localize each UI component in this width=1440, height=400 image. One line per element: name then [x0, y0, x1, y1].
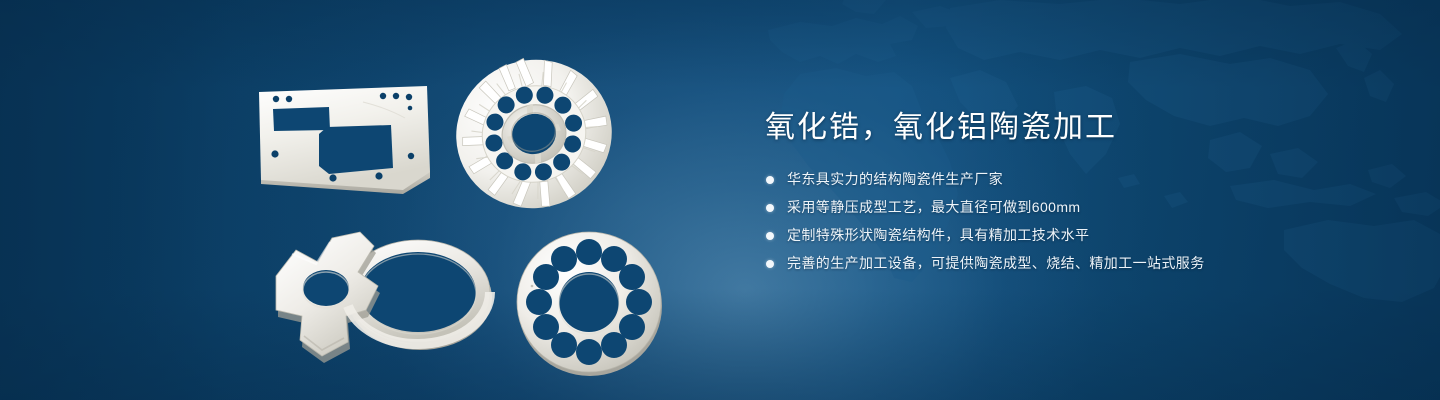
bullet-text: 完善的生产加工设备，可提供陶瓷成型、烧结、精加工一站式服务	[787, 255, 1205, 271]
bullet-item: 采用等静压成型工艺，最大直径可做到600mm	[765, 198, 1385, 217]
product-ceramic-cross-and-ring	[252, 224, 520, 364]
promo-banner: 氧化锆，氧化铝陶瓷加工 华东具实力的结构陶瓷件生产厂家 采用等静压成型工艺，最大…	[0, 0, 1440, 400]
product-photo-group	[0, 0, 720, 400]
banner-copy: 氧化锆，氧化铝陶瓷加工 华东具实力的结构陶瓷件生产厂家 采用等静压成型工艺，最大…	[765, 108, 1385, 282]
bullet-text: 采用等静压成型工艺，最大直径可做到600mm	[787, 199, 1080, 215]
product-ceramic-perforated-disc	[512, 226, 668, 378]
product-ceramic-impeller	[450, 48, 618, 220]
bullet-text: 定制特殊形状陶瓷结构件，具有精加工技术水平	[787, 227, 1089, 243]
bullet-dot-icon	[766, 232, 774, 240]
bullet-dot-icon	[766, 260, 774, 268]
bullet-text: 华东具实力的结构陶瓷件生产厂家	[787, 171, 1003, 187]
bullet-item: 定制特殊形状陶瓷结构件，具有精加工技术水平	[765, 226, 1385, 245]
product-ceramic-plate	[255, 82, 445, 202]
bullet-dot-icon	[766, 176, 774, 184]
banner-bullet-list: 华东具实力的结构陶瓷件生产厂家 采用等静压成型工艺，最大直径可做到600mm 定…	[765, 170, 1385, 273]
banner-headline: 氧化锆，氧化铝陶瓷加工	[765, 108, 1385, 148]
bullet-item: 华东具实力的结构陶瓷件生产厂家	[765, 170, 1385, 189]
bullet-item: 完善的生产加工设备，可提供陶瓷成型、烧结、精加工一站式服务	[765, 254, 1385, 273]
bullet-dot-icon	[766, 204, 774, 212]
